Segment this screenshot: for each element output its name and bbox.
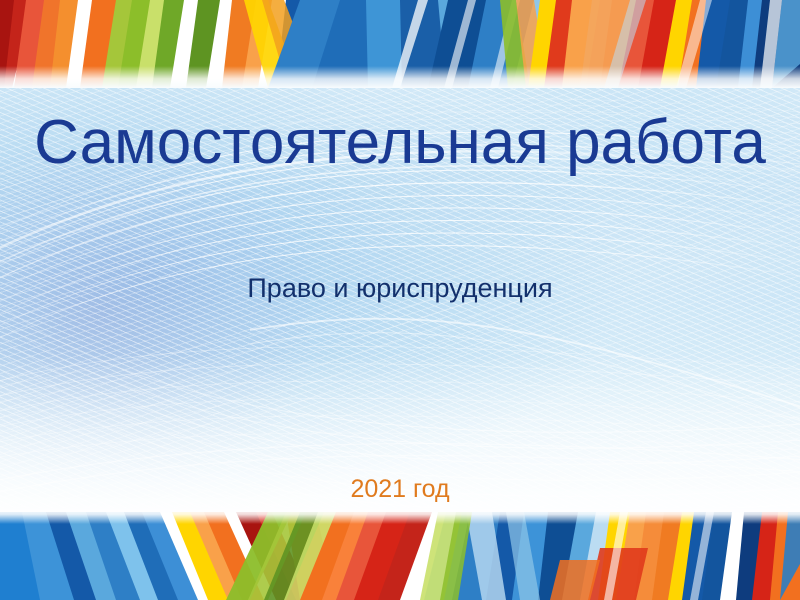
geometric-shards-bottom-icon xyxy=(0,508,800,600)
slide-year: 2021 год xyxy=(0,474,800,504)
slide-title: Самостоятельная работа xyxy=(0,110,800,176)
slide-subtitle: Право и юриспруденция xyxy=(0,272,800,304)
top-decorative-band xyxy=(0,0,800,88)
title-slide: Самостоятельная работа Право и юриспруде… xyxy=(0,0,800,600)
geometric-shards-top-icon xyxy=(0,0,800,88)
bottom-decorative-band xyxy=(0,508,800,600)
